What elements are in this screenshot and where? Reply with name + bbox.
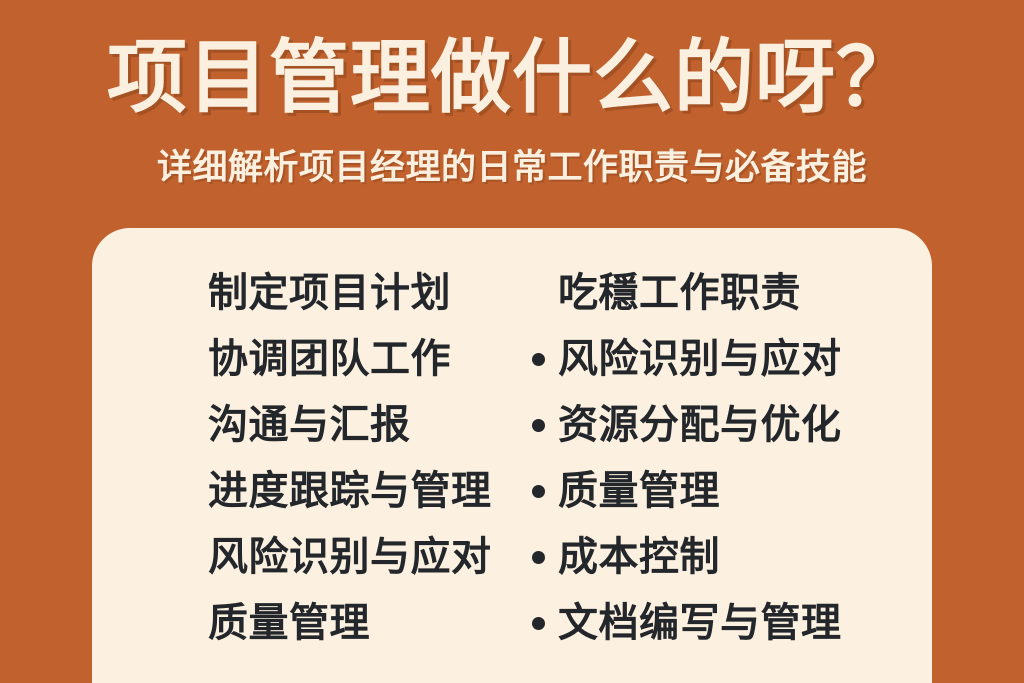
bullet-icon bbox=[532, 485, 545, 498]
bullet-icon bbox=[532, 551, 545, 564]
bullet-icon bbox=[532, 419, 545, 432]
list-item: 进度跟踪与管理 bbox=[182, 458, 542, 524]
list-item: 质量管理 bbox=[182, 590, 542, 656]
right-column-heading-label: 吃穩工作职责 bbox=[558, 269, 801, 317]
list-item-label: 资源分配与优化 bbox=[558, 401, 842, 449]
list-item-label: 风险识别与应对 bbox=[558, 335, 842, 383]
list-item-label: 质量管理 bbox=[558, 467, 720, 515]
list-item: 成本控制 bbox=[532, 524, 932, 590]
list-item-label: 制定项目计划 bbox=[208, 269, 451, 317]
list-item-label: 文档编写与管理 bbox=[558, 599, 842, 647]
list-item-label: 成本控制 bbox=[558, 533, 720, 581]
page-title: 项目管理做什么的呀？ bbox=[0, 30, 1024, 126]
list-item: 资源分配与优化 bbox=[532, 392, 932, 458]
bullet-icon bbox=[532, 287, 545, 300]
list-item: 风险识别与应对 bbox=[182, 524, 542, 590]
list-item-label: 风险识别与应对 bbox=[208, 533, 492, 581]
list-item: 风险识别与应对 bbox=[532, 326, 932, 392]
bullet-icon bbox=[182, 353, 195, 366]
list-item-label: 质量管理 bbox=[208, 599, 370, 647]
list-item-label: 沟通与汇报 bbox=[208, 401, 411, 449]
list-item: 文档编写与管理 bbox=[532, 590, 932, 656]
list-item: 沟通与汇报 bbox=[182, 392, 542, 458]
bullet-icon bbox=[182, 287, 195, 300]
right-column: 吃穩工作职责 风险识别与应对 资源分配与优化 质量管理 成本控制 bbox=[532, 260, 932, 656]
bullet-icon bbox=[532, 617, 545, 630]
bullet-icon bbox=[532, 353, 545, 366]
right-column-heading: 吃穩工作职责 bbox=[532, 260, 932, 326]
content-card: 制定项目计划 协调团队工作 沟通与汇报 进度跟踪与管理 风险识别与应对 bbox=[92, 228, 932, 683]
bullet-icon bbox=[182, 551, 195, 564]
bullet-icon bbox=[182, 617, 195, 630]
list-item-label: 进度跟踪与管理 bbox=[208, 467, 492, 515]
list-item-label: 协调团队工作 bbox=[208, 335, 451, 383]
poster-root: 项目管理做什么的呀？ 详细解析项目经理的日常工作职责与必备技能 制定项目计划 协… bbox=[0, 0, 1024, 683]
bullet-icon bbox=[182, 419, 195, 432]
list-item: 制定项目计划 bbox=[182, 260, 542, 326]
bullet-icon bbox=[182, 485, 195, 498]
list-item: 质量管理 bbox=[532, 458, 932, 524]
content-columns: 制定项目计划 协调团队工作 沟通与汇报 进度跟踪与管理 风险识别与应对 bbox=[92, 228, 932, 683]
list-item: 协调团队工作 bbox=[182, 326, 542, 392]
page-subtitle: 详细解析项目经理的日常工作职责与必备技能 bbox=[0, 145, 1024, 191]
left-column: 制定项目计划 协调团队工作 沟通与汇报 进度跟踪与管理 风险识别与应对 bbox=[182, 260, 542, 656]
